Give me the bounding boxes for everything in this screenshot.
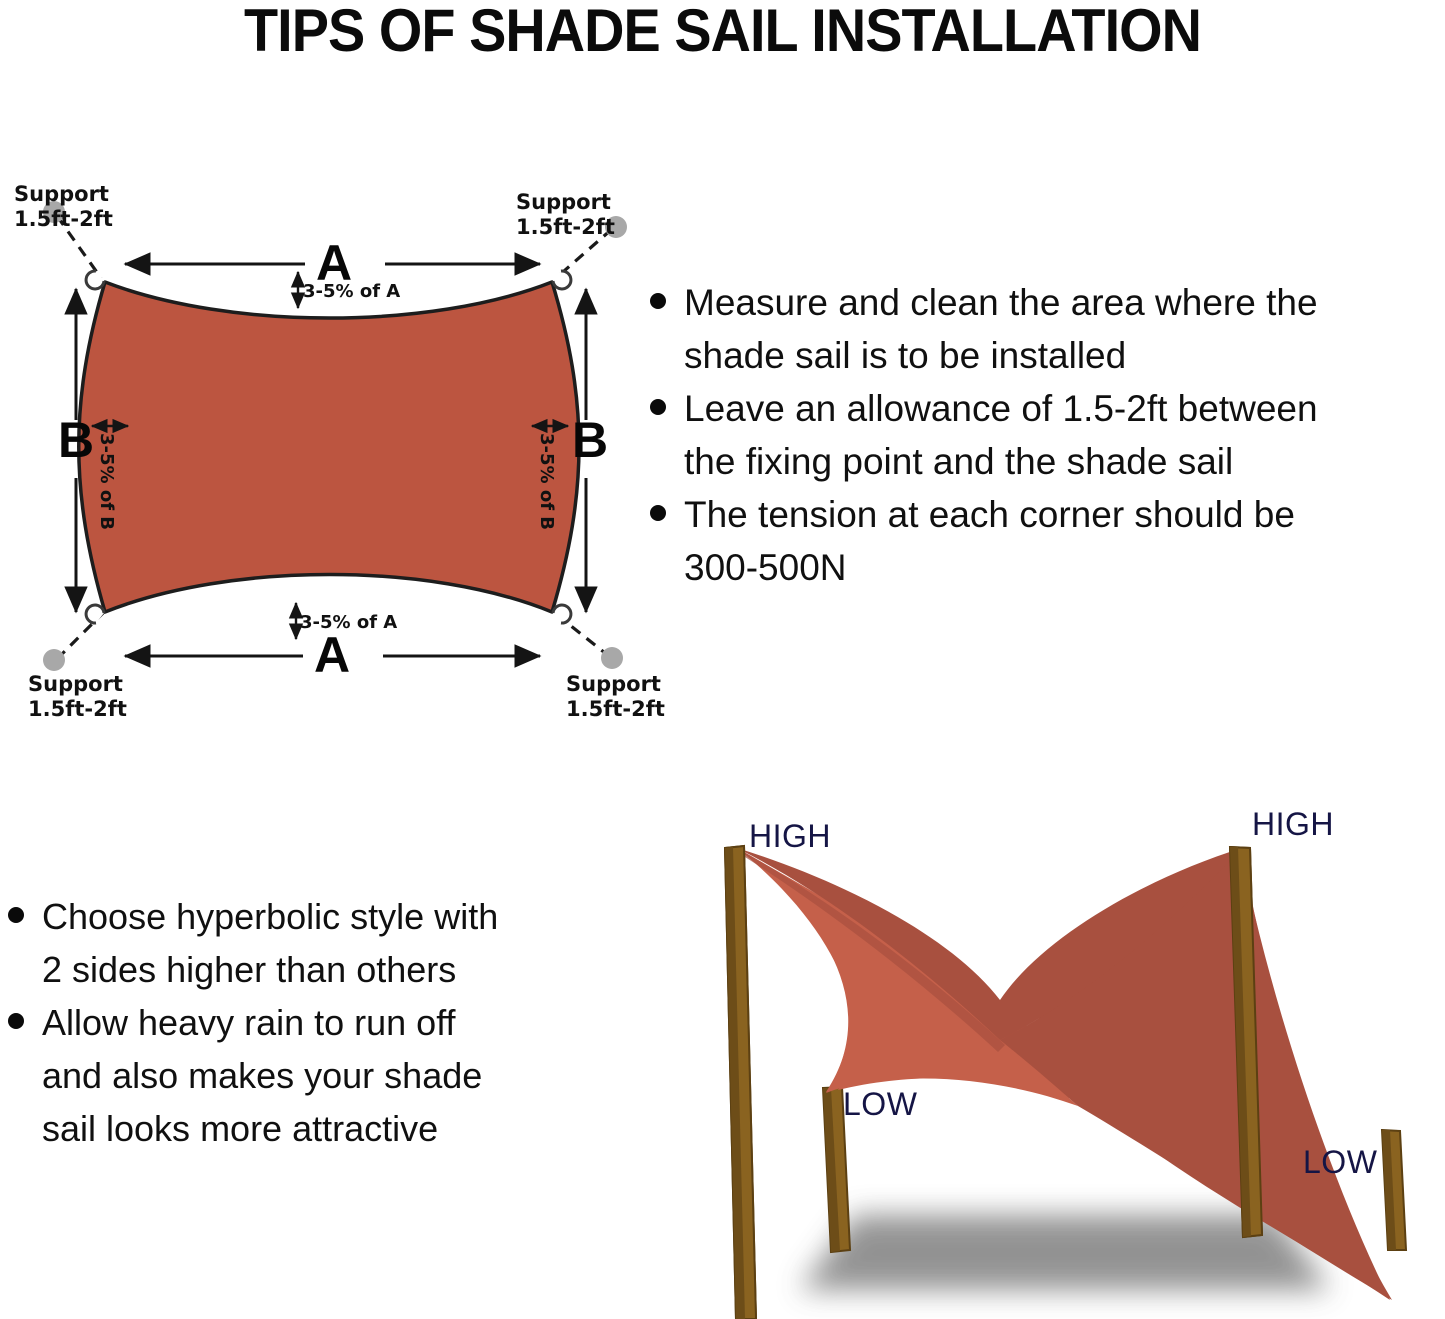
corner-label-high-left: HIGH — [749, 818, 831, 855]
corner-label-low-left: LOW — [843, 1086, 917, 1123]
corner-label-high-right: HIGH — [1252, 806, 1334, 843]
corner-label-low-right: LOW — [1303, 1144, 1377, 1181]
hyperbolic-sail-graphics — [0, 0, 1445, 1319]
infographic-page: TIPS OF SHADE SAIL INSTALLATION — [0, 0, 1445, 1319]
